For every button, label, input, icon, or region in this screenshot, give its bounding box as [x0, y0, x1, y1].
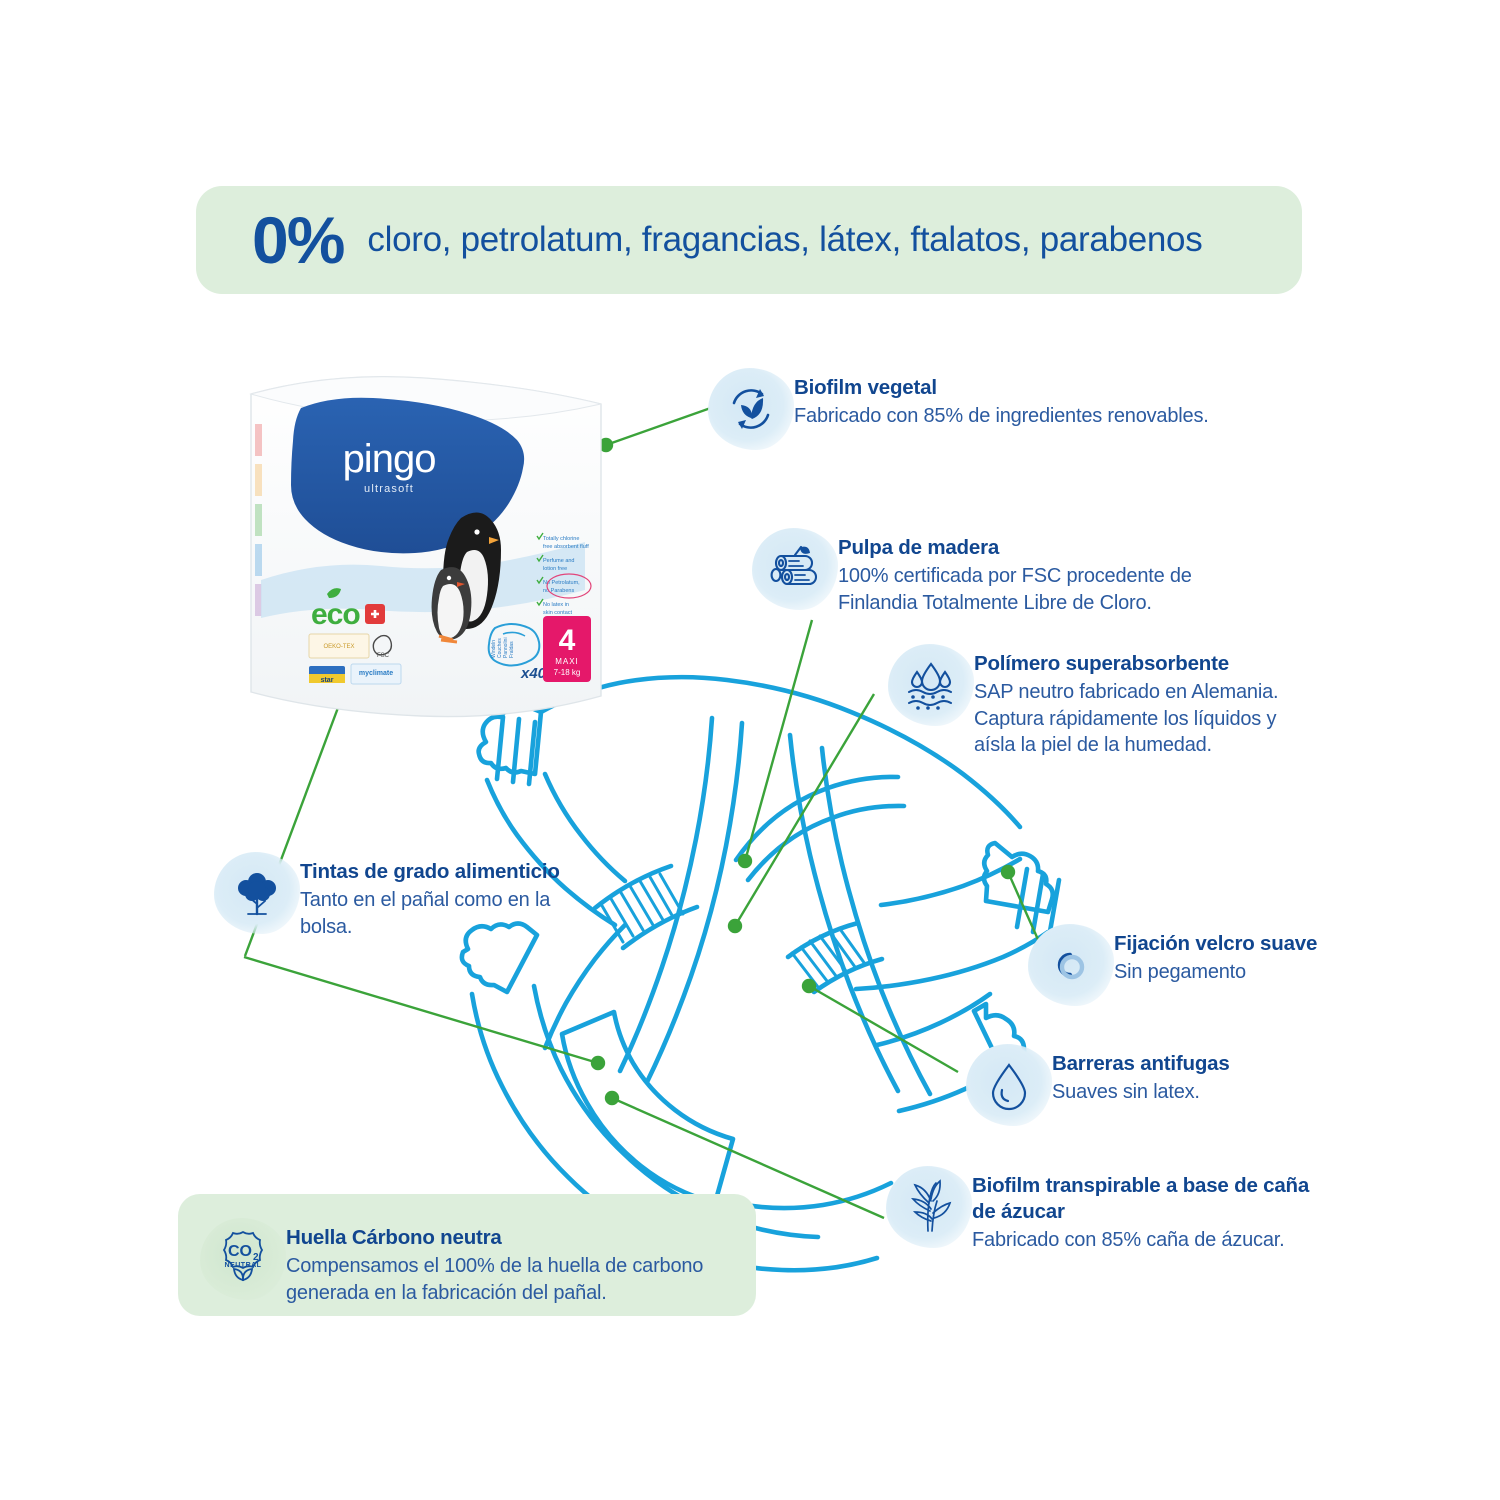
- callout-body-line: Fabricado con 85% de ingredientes renova…: [794, 403, 1209, 430]
- callout-title: Biofilm transpirable a base de caña: [972, 1173, 1309, 1199]
- chain-link-icon: [1028, 924, 1114, 1006]
- callout-text: Pulpa de madera 100% certificada por FSC…: [838, 528, 1192, 616]
- connector-biofilm-vegetal: [606, 404, 722, 445]
- callout-body-line: generada en la fabricación del pañal.: [286, 1280, 703, 1307]
- svg-text:skin contact: skin contact: [543, 610, 573, 616]
- svg-text:eco: eco: [311, 598, 360, 631]
- callout-title: Polímero superabsorbente: [974, 651, 1278, 677]
- svg-text:x40: x40: [520, 665, 547, 682]
- callout-barreras-antifugas[interactable]: Barreras antifugas Suaves sin latex.: [966, 1044, 1296, 1126]
- callout-text: Fijación velcro suave Sin pegamento: [1114, 924, 1317, 986]
- callout-body-line: Finlandia Totalmente Libre de Cloro.: [838, 590, 1192, 617]
- svg-text:No latex in: No latex in: [543, 602, 569, 608]
- callout-title: Huella Cárbono neutra: [286, 1225, 703, 1251]
- callout-polimero-superabsorbente[interactable]: Polímero superabsorbente SAP neutro fabr…: [888, 644, 1328, 759]
- svg-text:4: 4: [559, 624, 576, 657]
- recycle-leaf-icon: [708, 368, 794, 450]
- wood-logs-icon: [752, 528, 838, 610]
- connector-barreras: [809, 986, 958, 1072]
- sugarcane-icon: [886, 1166, 972, 1248]
- infographic-root: pingo ultrasoft eco: [0, 0, 1500, 1500]
- absorbent-droplets-icon: [888, 644, 974, 726]
- callout-text: Biofilm vegetal Fabricado con 85% de ing…: [794, 368, 1209, 430]
- callout-title: Pulpa de madera: [838, 535, 1192, 561]
- callout-tintas-grado-alimenticio[interactable]: Tintas de grado alimenticio Tanto en el …: [214, 852, 614, 940]
- callout-text: Huella Cárbono neutra Compensamos el 100…: [286, 1218, 703, 1306]
- connector-tintas-diaper: [244, 957, 598, 1063]
- callout-text: Barreras antifugas Suaves sin latex.: [1052, 1044, 1230, 1106]
- svg-text:Totally chlorine: Totally chlorine: [543, 536, 579, 542]
- callout-body-line: 100% certificada por FSC procedente de: [838, 563, 1192, 590]
- callout-body-line: Tanto en el pañal como en la: [300, 887, 560, 914]
- tree-icon: [214, 852, 300, 934]
- svg-text:lotion free: lotion free: [543, 566, 567, 572]
- callout-body-line: Fabricado con 85% caña de ázucar.: [972, 1227, 1309, 1254]
- callout-body-line: Sin pegamento: [1114, 959, 1317, 986]
- callout-title: Biofilm vegetal: [794, 375, 1209, 401]
- svg-text:ultrasoft: ultrasoft: [364, 483, 414, 495]
- svg-text:OEKO-TEX: OEKO-TEX: [323, 644, 354, 650]
- callout-title: Barreras antifugas: [1052, 1051, 1230, 1077]
- callout-body-line: Compensamos el 100% de la huella de carb…: [286, 1253, 703, 1280]
- connector-polimero: [735, 694, 874, 926]
- svg-text:pingo: pingo: [343, 437, 436, 481]
- svg-text:free absorbent fluff: free absorbent fluff: [543, 544, 589, 550]
- callout-fijacion-velcro[interactable]: Fijación velcro suave Sin pegamento: [1028, 924, 1358, 1006]
- callout-title: Tintas de grado alimenticio: [300, 859, 560, 885]
- svg-text:Perfume and: Perfume and: [543, 558, 575, 564]
- product-package: pingo ultrasoft eco: [243, 372, 613, 730]
- svg-text:MAXI: MAXI: [555, 657, 579, 666]
- callout-text: Tintas de grado alimenticio Tanto en el …: [300, 852, 560, 940]
- callout-body-line: SAP neutro fabricado en Alemania.: [974, 679, 1278, 706]
- callout-title: Fijación velcro suave: [1114, 931, 1317, 957]
- svg-text:FSC: FSC: [377, 653, 390, 659]
- connector-pulpa-madera: [745, 620, 812, 861]
- callout-pulpa-madera[interactable]: Pulpa de madera 100% certificada por FSC…: [752, 528, 1272, 616]
- svg-text:Fraldas: Fraldas: [509, 641, 515, 658]
- svg-text:7-18 kg: 7-18 kg: [554, 668, 581, 677]
- callout-biofilm-vegetal[interactable]: Biofilm vegetal Fabricado con 85% de ing…: [708, 368, 1268, 450]
- water-drop-icon: [966, 1044, 1052, 1126]
- callout-title-line2: de ázucar: [972, 1199, 1309, 1225]
- svg-text:star: star: [321, 677, 334, 684]
- callout-biofilm-transpirable[interactable]: Biofilm transpirable a base de caña de á…: [886, 1166, 1336, 1254]
- callout-huella-carbono[interactable]: CO 2 NEUTRAL Huella Cárbono neutra Compe…: [200, 1218, 740, 1306]
- co2-neutral-icon: CO 2 NEUTRAL: [200, 1218, 286, 1300]
- svg-text:NEUTRAL: NEUTRAL: [225, 1262, 262, 1269]
- callout-body-line: Suaves sin latex.: [1052, 1079, 1230, 1106]
- callout-text: Polímero superabsorbente SAP neutro fabr…: [974, 644, 1278, 759]
- svg-text:myclimate: myclimate: [359, 670, 393, 677]
- callout-body-line: aísla la piel de la humedad.: [974, 732, 1278, 759]
- svg-text:CO: CO: [228, 1243, 252, 1260]
- callout-body-line: Captura rápidamente los líquidos y: [974, 706, 1278, 733]
- callout-body-line: bolsa.: [300, 914, 560, 941]
- callout-text: Biofilm transpirable a base de caña de á…: [972, 1166, 1309, 1254]
